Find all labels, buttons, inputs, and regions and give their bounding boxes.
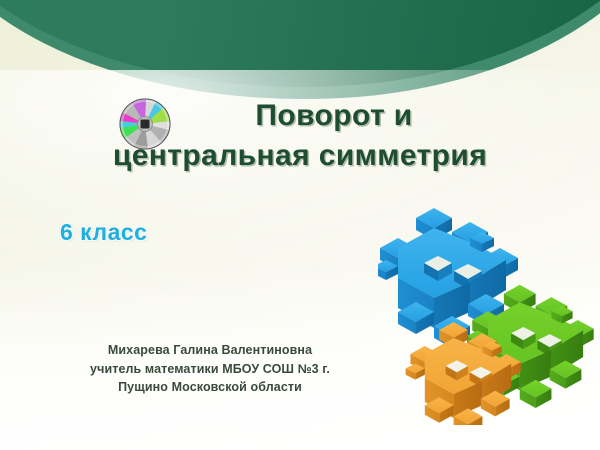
title-line-1: Поворот и (0, 100, 600, 132)
grade-label: 6 класс (60, 219, 147, 246)
author-role-school: учитель математики МБОУ СОШ №3 г. (22, 360, 398, 379)
page-title: Поворот и центральная симметрия (0, 100, 600, 173)
title-line-2: центральная симметрия (0, 140, 600, 172)
voxel-puzzle-pieces-icon (378, 190, 600, 425)
author-location: Пущино Московской области (22, 378, 398, 397)
author-name: Михарева Галина Валентиновна (22, 341, 398, 360)
author-block: Михарева Галина Валентиновна учитель мат… (22, 341, 398, 397)
presentation-slide: Поворот и центральная симметрия 6 класс … (0, 0, 600, 450)
background-band-dark-green (0, 0, 600, 109)
